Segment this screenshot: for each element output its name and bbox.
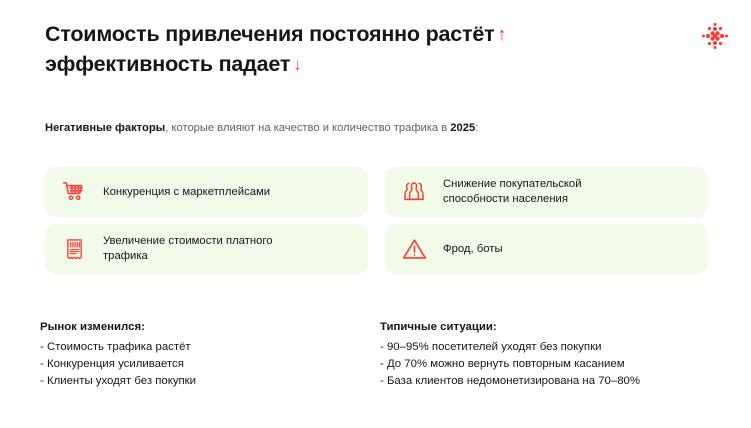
arrow-down-icon: ↓ <box>293 50 301 79</box>
summary-list-item: - Стоимость трафика растёт <box>40 339 380 356</box>
subtitle-year: 2025 <box>450 122 475 134</box>
brand-dots-logo <box>701 22 729 50</box>
arrow-up-icon: ↑ <box>497 20 506 49</box>
title-line-2-text: эффективность падает <box>45 52 290 76</box>
summary-column-situations: Типичные ситуации: - 90–95% посетителей … <box>380 320 710 390</box>
summary-columns: Рынок изменился: - Стоимость трафика рас… <box>40 320 710 390</box>
warning-triangle-icon <box>399 234 429 264</box>
factor-card: Снижение покупательской способности насе… <box>385 167 708 217</box>
summary-list-item: - Конкуренция усиливается <box>40 356 380 373</box>
subtitle: Негативные факторы, которые влияют на ка… <box>45 120 478 136</box>
subtitle-strong-prefix: Негативные факторы <box>45 122 165 134</box>
factor-card: Увеличение стоимости платного трафика <box>45 224 368 274</box>
summary-list-item: - До 70% можно вернуть повторным касание… <box>380 356 710 373</box>
summary-list-item: - 90–95% посетителей уходят без покупки <box>380 339 710 356</box>
summary-column-market: Рынок изменился: - Стоимость трафика рас… <box>40 320 380 390</box>
slide-root: Стоимость привлечения постоянно растёт↑ … <box>0 0 751 428</box>
summary-heading: Типичные ситуации: <box>380 320 710 335</box>
title-line-1-text: Стоимость привлечения постоянно растёт <box>45 22 494 46</box>
summary-list-item: - Клиенты уходят без покупки <box>40 373 380 390</box>
subtitle-middle: , которые влияют на качество и количеств… <box>165 122 450 134</box>
factor-card-label: Снижение покупательской способности насе… <box>443 177 582 207</box>
factor-card: Конкуренция с маркетплейсами <box>45 167 368 217</box>
people-group-icon <box>399 177 429 207</box>
subtitle-suffix: : <box>475 122 478 134</box>
summary-list-item: - База клиентов недомонетизирована на 70… <box>380 373 710 390</box>
title-line-2: эффективность падает↓ <box>45 50 645 80</box>
factor-card-label: Конкуренция с маркетплейсами <box>103 185 270 200</box>
factor-cards-grid: Конкуренция с маркетплейсами Снижение по… <box>45 167 708 274</box>
factor-card-label: Фрод, боты <box>443 242 503 257</box>
receipt-icon <box>59 234 89 264</box>
factor-card: Фрод, боты <box>385 224 708 274</box>
shopping-cart-icon <box>59 177 89 207</box>
page-title: Стоимость привлечения постоянно растёт↑ … <box>45 20 645 80</box>
title-line-1: Стоимость привлечения постоянно растёт↑ <box>45 20 645 50</box>
summary-heading: Рынок изменился: <box>40 320 380 335</box>
factor-card-label: Увеличение стоимости платного трафика <box>103 234 273 264</box>
